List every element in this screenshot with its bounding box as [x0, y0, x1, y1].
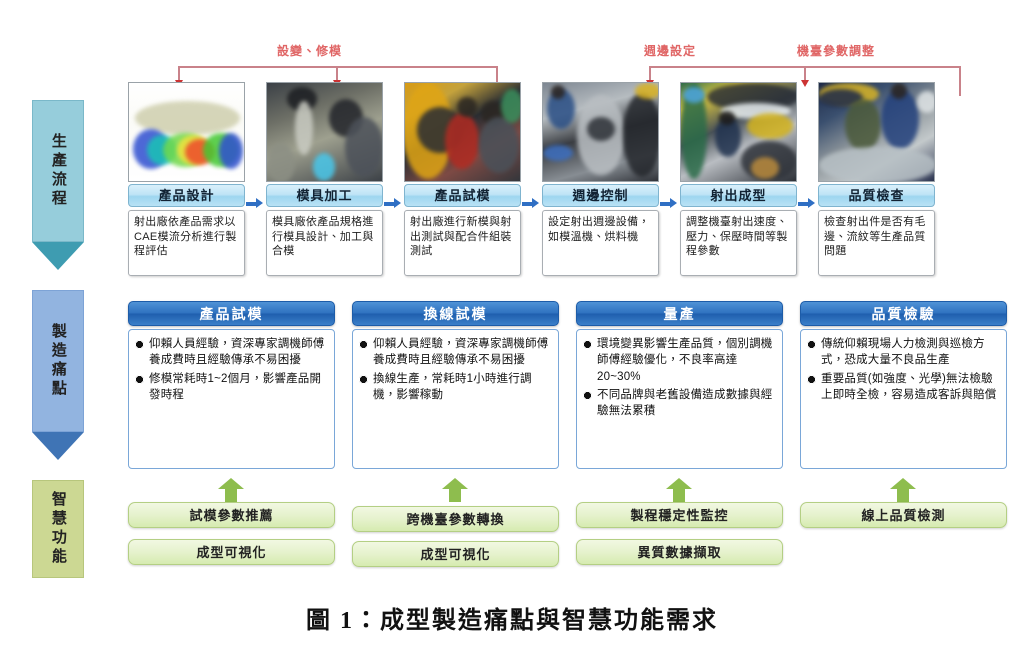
cae-stress-analysis-photo — [128, 82, 245, 182]
smart-function-box[interactable]: 製程穩定性監控 — [576, 502, 783, 528]
feedback-label-machine-param-adjust: 機臺參數調整 — [797, 42, 875, 59]
process-stage-description: 設定射出週邊設備，如模溫機、烘料機 — [542, 210, 659, 276]
smart-to-painpoint-arrow — [890, 478, 916, 502]
process-stage-description: 調整機臺射出速度、壓力、保壓時間等製程參數 — [680, 210, 797, 276]
band-manufacturing-painpoints-body: 製造痛點 — [32, 290, 84, 432]
product-trial-mold-photo — [404, 82, 521, 182]
painpoint-bullet: 重要品質(如強度、光學)無法檢驗上即時全檢，容易造成客訴與賠償 — [807, 371, 999, 404]
process-flow-arrow — [522, 198, 539, 209]
painpoint-title: 換線試模 — [352, 301, 559, 326]
mold-machining-photo — [266, 82, 383, 182]
band-manufacturing-painpoints-label: 製造痛點 — [50, 323, 66, 399]
painpoint-column-quality-inspection: 品質檢驗 傳統仰賴現場人力檢測與巡檢方式，恐成大量不良品生產 重要品質(如強度、… — [800, 301, 1007, 469]
process-stage-product-design: 產品設計 射出廠依產品需求以CAE模流分析進行製程評估 — [128, 82, 245, 276]
painpoint-body: 仰賴人員經驗，資深專家調機師傅養成費時且經驗傳承不易困擾 換線生產，常耗時1小時… — [352, 329, 559, 469]
painpoint-body: 環境變異影響生產品質，個別調機師傅經驗優化，不良率高達20~30% 不同品牌與老… — [576, 329, 783, 469]
smart-to-painpoint-arrow — [442, 478, 468, 502]
band-production-process-label: 生產流程 — [50, 133, 66, 209]
process-stage-label: 射出成型 — [680, 184, 797, 207]
process-stage-peripheral-control: 週邊控制 設定射出週邊設備，如模溫機、烘料機 — [542, 82, 659, 276]
process-stage-injection-molding: 射出成型 調整機臺射出速度、壓力、保壓時間等製程參數 — [680, 82, 797, 276]
painpoint-column-product-trial-mold: 產品試模 仰賴人員經驗，資深專家調機師傅養成費時且經驗傳承不易困擾 修模常耗時1… — [128, 301, 335, 469]
painpoint-bullet: 傳統仰賴現場人力檢測與巡檢方式，恐成大量不良品生產 — [807, 336, 999, 369]
feedback-label-design-change: 設變、修模 — [277, 42, 342, 59]
smart-function-box[interactable]: 成型可視化 — [128, 539, 335, 565]
process-stage-description: 射出廠依產品需求以CAE模流分析進行製程評估 — [128, 210, 245, 276]
smart-function-box[interactable]: 跨機臺參數轉換 — [352, 506, 559, 532]
painpoint-bullet: 修模常耗時1~2個月，影響產品開發時程 — [135, 371, 327, 404]
painpoint-bullet: 環境變異影響生產品質，個別調機師傅經驗優化，不良率高達20~30% — [583, 336, 775, 385]
band-manufacturing-painpoints-arrow-tip — [32, 432, 84, 460]
process-flow-arrow — [384, 198, 401, 209]
painpoint-bullet: 仰賴人員經驗，資深專家調機師傅養成費時且經驗傳承不易困擾 — [135, 336, 327, 369]
quality-inspection-photo — [818, 82, 935, 182]
painpoint-column-line-change-trial: 換線試模 仰賴人員經驗，資深專家調機師傅養成費時且經驗傳承不易困擾 換線生產，常… — [352, 301, 559, 469]
painpoint-title: 產品試模 — [128, 301, 335, 326]
process-stage-quality-check: 品質檢查 檢查射出件是否有毛邊、流紋等生產品質問題 — [818, 82, 935, 276]
process-stage-label: 產品設計 — [128, 184, 245, 207]
painpoint-title: 量產 — [576, 301, 783, 326]
painpoint-bullet: 仰賴人員經驗，資深專家調機師傅養成費時且經驗傳承不易困擾 — [359, 336, 551, 369]
process-stage-product-trial-mold: 產品試模 射出廠進行新模與射出測試與配合件組裝測試 — [404, 82, 521, 276]
process-stage-description: 射出廠進行新模與射出測試與配合件組裝測試 — [404, 210, 521, 276]
band-smart-functions-label: 智慧功能 — [50, 491, 66, 567]
band-production-process-body: 生產流程 — [32, 100, 84, 242]
band-production-process-arrow-tip — [32, 242, 84, 270]
process-stage-description: 模具廠依產品規格進行模具設計、加工與合模 — [266, 210, 383, 276]
painpoint-body: 傳統仰賴現場人力檢測與巡檢方式，恐成大量不良品生產 重要品質(如強度、光學)無法… — [800, 329, 1007, 469]
process-stage-mold-machining: 模具加工 模具廠依產品規格進行模具設計、加工與合模 — [266, 82, 383, 276]
smart-function-box[interactable]: 線上品質檢測 — [800, 502, 1007, 528]
smart-to-painpoint-arrow — [218, 478, 244, 502]
painpoint-bullet: 換線生產，常耗時1小時進行調機，影響稼動 — [359, 371, 551, 404]
smart-function-box[interactable]: 異質數據擷取 — [576, 539, 783, 565]
painpoint-body: 仰賴人員經驗，資深專家調機師傅養成費時且經驗傳承不易困擾 修模常耗時1~2個月，… — [128, 329, 335, 469]
peripheral-control-photo — [542, 82, 659, 182]
process-flow-arrow — [798, 198, 815, 209]
band-smart-functions: 智慧功能 — [32, 480, 84, 578]
painpoint-title: 品質檢驗 — [800, 301, 1007, 326]
painpoint-column-mass-production: 量產 環境變異影響生產品質，個別調機師傅經驗優化，不良率高達20~30% 不同品… — [576, 301, 783, 469]
process-flow-arrow — [246, 198, 263, 209]
process-stage-label: 模具加工 — [266, 184, 383, 207]
smart-to-painpoint-arrow — [666, 478, 692, 502]
process-stage-label: 週邊控制 — [542, 184, 659, 207]
process-stage-description: 檢查射出件是否有毛邊、流紋等生產品質問題 — [818, 210, 935, 276]
injection-molding-photo — [680, 82, 797, 182]
band-smart-functions-body: 智慧功能 — [32, 480, 84, 578]
process-flow-arrow — [660, 198, 677, 209]
band-manufacturing-painpoints: 製造痛點 — [32, 290, 84, 460]
figure-caption: 圖 1：成型製造痛點與智慧功能需求 — [0, 600, 1024, 635]
painpoint-bullet: 不同品牌與老舊設備造成數據與經驗無法累積 — [583, 387, 775, 420]
smart-function-box[interactable]: 成型可視化 — [352, 541, 559, 567]
process-stage-label: 品質檢查 — [818, 184, 935, 207]
feedback-label-peripheral-setting: 週邊設定 — [644, 42, 696, 59]
smart-function-box[interactable]: 試模參數推薦 — [128, 502, 335, 528]
process-stage-label: 產品試模 — [404, 184, 521, 207]
figure-diagram: 生產流程 製造痛點 智慧功能 設變、修模 週邊設定 機臺參數調整 — [0, 0, 1024, 649]
band-production-process: 生產流程 — [32, 100, 84, 270]
